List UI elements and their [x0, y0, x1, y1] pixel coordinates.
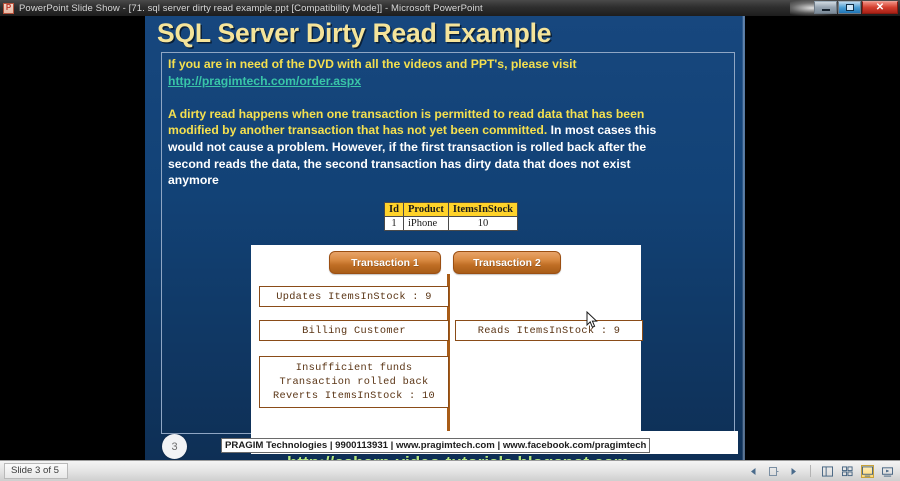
slide-canvas[interactable]: SQL Server Dirty Read Example If you are… [145, 16, 745, 460]
paragraph-yellow-1: A dirty read happens when one transactio… [168, 107, 644, 121]
page-title: SQL Server Dirty Read Example [157, 18, 737, 49]
window-titlebar: P PowerPoint Slide Show - [71. sql serve… [0, 0, 900, 16]
statusbar-buttons [747, 465, 900, 478]
slide-content-placeholder: If you are in need of the DVD with all t… [161, 52, 735, 434]
cell-itemsinstock: 10 [448, 217, 517, 231]
col-header-itemsinstock: ItemsInStock [448, 203, 517, 217]
statusbar-divider [810, 465, 811, 477]
reading-view-icon[interactable] [861, 465, 874, 478]
rollback-line-1: Insufficient funds [296, 361, 413, 375]
transaction1-button[interactable]: Transaction 1 [329, 251, 441, 274]
dvd-line: If you are in need of the DVD with all t… [168, 56, 728, 73]
slide-body-text: If you are in need of the DVD with all t… [168, 56, 728, 189]
slideshow-stage[interactable]: SQL Server Dirty Read Example If you are… [0, 16, 900, 460]
rollback-line-3: Reverts ItemsInStock : 10 [273, 389, 435, 403]
transaction2-label: Transaction 2 [473, 257, 541, 269]
footer-credit: PRAGIM Technologies | 9900113931 | www.p… [221, 438, 650, 453]
paragraph-white-1: In most cases this [547, 123, 656, 137]
step-billing-text: Billing Customer [302, 324, 406, 338]
window-title: PowerPoint Slide Show - [71. sql server … [19, 3, 483, 14]
next-slide-icon[interactable] [787, 465, 800, 478]
order-link[interactable]: http://pragimtech.com/order.aspx [168, 74, 361, 88]
powerpoint-icon: P [3, 3, 14, 14]
step-rollback-box: Insufficient funds Transaction rolled ba… [259, 356, 449, 408]
table-row: 1 iPhone 10 [385, 217, 518, 231]
col-header-id: Id [385, 203, 404, 217]
paragraph-yellow-2: modified by another transaction that has… [168, 123, 547, 137]
slideshow-view-icon[interactable] [881, 465, 894, 478]
paragraph-line-1: A dirty read happens when one transactio… [168, 106, 728, 123]
transaction-diagram: Transaction 1 Transaction 2 Updates Item… [251, 245, 641, 431]
paragraph-white-2: would not cause a problem. However, if t… [168, 139, 728, 156]
table-header-row: Id Product ItemsInStock [385, 203, 518, 217]
rollback-line-2: Transaction rolled back [279, 375, 428, 389]
paragraph-white-3: second reads the data, the second transa… [168, 156, 728, 173]
transaction1-label: Transaction 1 [351, 257, 419, 269]
slide-menu-icon[interactable] [767, 465, 780, 478]
close-icon: ✕ [876, 3, 884, 13]
maximize-button[interactable] [838, 1, 861, 14]
slide-number-badge: 3 [162, 434, 187, 459]
step-billing-box: Billing Customer [259, 320, 449, 341]
col-header-product: Product [403, 203, 448, 217]
cell-product: iPhone [403, 217, 448, 231]
paragraph-line-2: modified by another transaction that has… [168, 122, 728, 139]
step-updates-box: Updates ItemsInStock : 9 [259, 286, 449, 307]
paragraph-white-4: anymore [168, 172, 728, 189]
slide-indicator: Slide 3 of 5 [4, 463, 68, 479]
close-button[interactable]: ✕ [862, 1, 898, 14]
normal-view-icon[interactable] [821, 465, 834, 478]
statusbar: Slide 3 of 5 [0, 460, 900, 481]
slide-sorter-icon[interactable] [841, 465, 854, 478]
prev-slide-icon[interactable] [747, 465, 760, 478]
step-reads-box: Reads ItemsInStock : 9 [455, 320, 643, 341]
cell-id: 1 [385, 217, 404, 231]
step-updates-text: Updates ItemsInStock : 9 [276, 290, 432, 304]
step-reads-text: Reads ItemsInStock : 9 [478, 324, 621, 338]
window-controls: ✕ [814, 1, 898, 15]
powerpoint-slideshow-window: P PowerPoint Slide Show - [71. sql serve… [0, 0, 900, 481]
transaction2-button[interactable]: Transaction 2 [453, 251, 561, 274]
minimize-button[interactable] [814, 1, 837, 14]
products-table: Id Product ItemsInStock 1 iPhone 10 [384, 202, 518, 231]
